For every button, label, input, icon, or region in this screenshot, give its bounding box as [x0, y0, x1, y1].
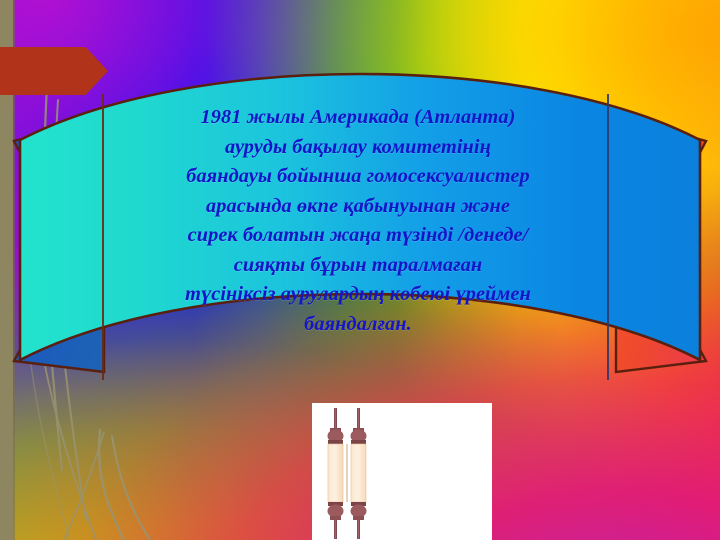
banner-body-text: 1981 жылы Америкада (Атланта) ауруды бақ…: [112, 103, 604, 339]
slide-canvas: 1981 жылы Америкада (Атланта) ауруды бақ…: [0, 0, 720, 540]
scroll-icon: [321, 407, 383, 540]
white-content-card: [312, 403, 492, 540]
scroll-roller-right: [351, 408, 367, 539]
scroll-roller-left: [328, 408, 344, 539]
